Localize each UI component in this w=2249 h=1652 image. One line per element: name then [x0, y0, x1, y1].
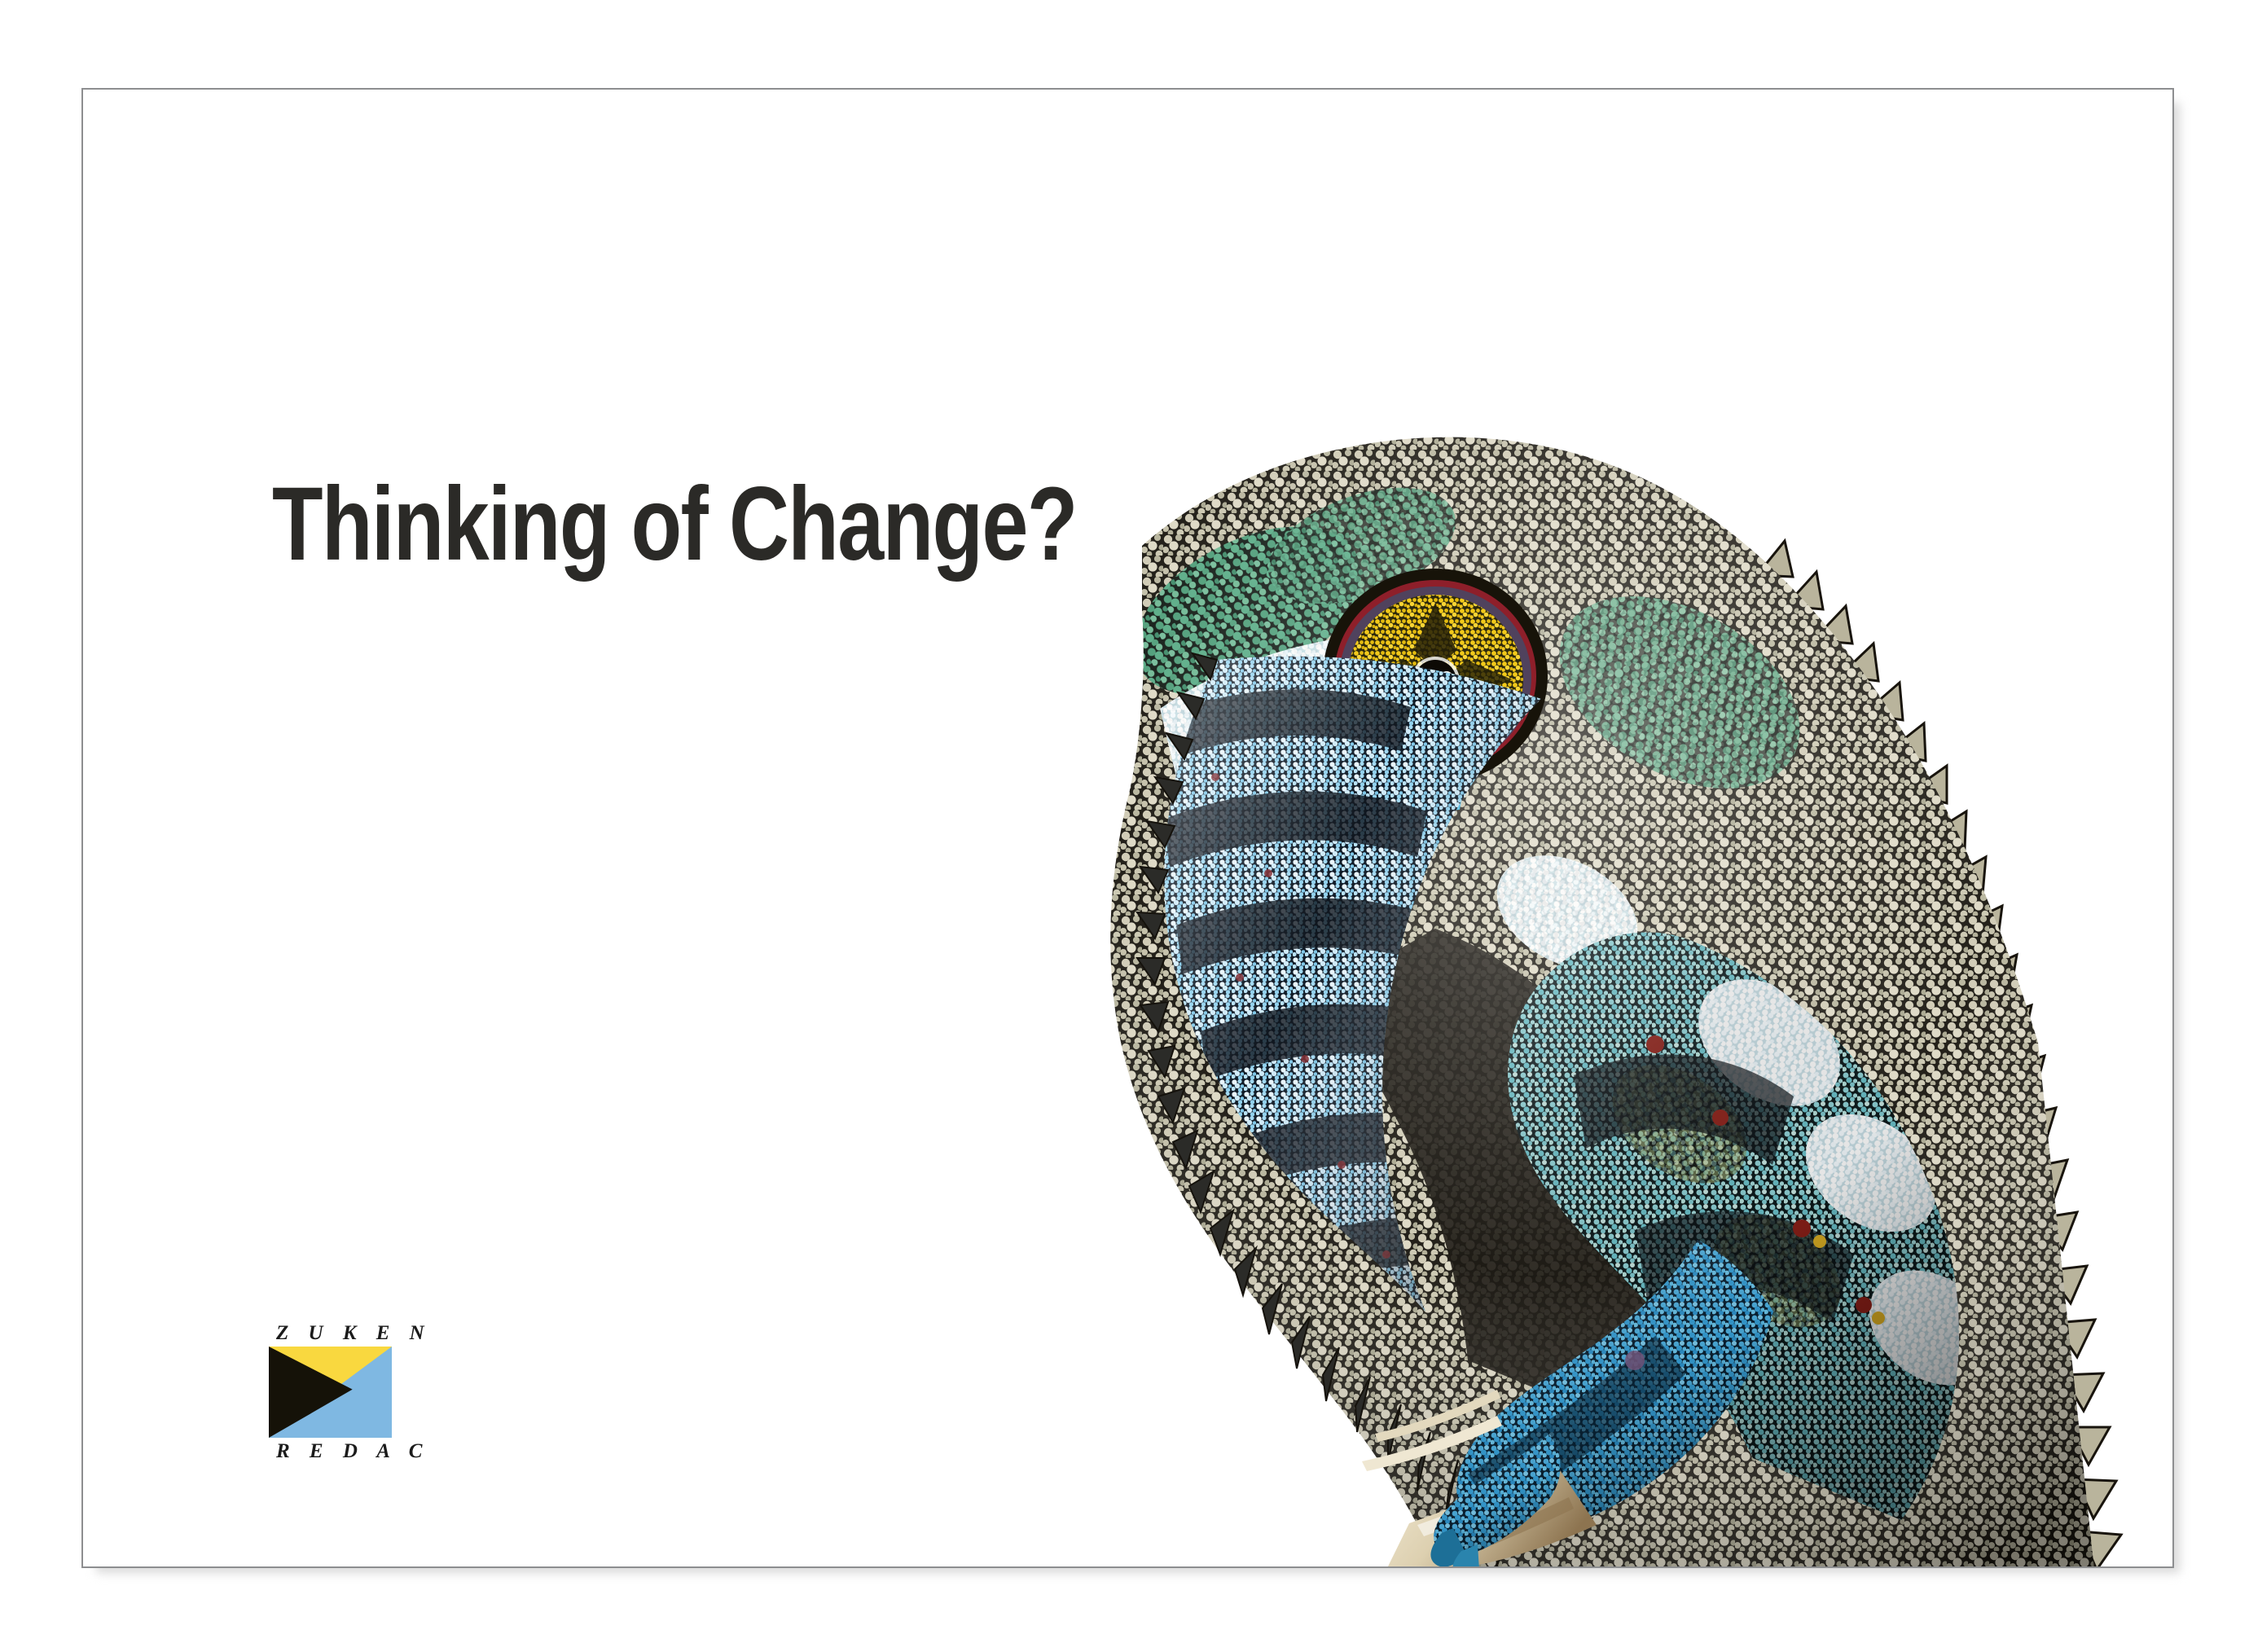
brochure-cover-page: Thinking of Change? Z U K E N R E D A C — [81, 88, 2174, 1568]
logo-wordmark-bottom: R E D A C — [269, 1438, 406, 1465]
gular-crest — [1137, 653, 1509, 1568]
chameleon-front-leg — [1492, 912, 2017, 1548]
chameleon-foot — [1419, 1417, 1582, 1568]
chameleon-back — [1386, 415, 2174, 1568]
foot-toes — [1430, 1528, 1479, 1568]
screenshot-canvas: Thinking of Change? Z U K E N R E D A C — [0, 0, 2249, 1652]
logo-mark-square — [269, 1347, 392, 1438]
zuken-redac-logo: Z U K E N R E D A C — [269, 1320, 406, 1465]
chameleon-eye — [1323, 569, 1548, 811]
logo-wordmark-top: Z U K E N — [269, 1320, 406, 1347]
twig — [1362, 1390, 1597, 1568]
chameleon-head — [1107, 415, 2128, 1568]
chameleon-lower-leg — [1443, 1230, 1786, 1556]
dorsal-crest — [1757, 541, 2121, 1568]
page-title: Thinking of Change? — [272, 472, 1077, 577]
chameleon-throat — [1142, 627, 1598, 1360]
